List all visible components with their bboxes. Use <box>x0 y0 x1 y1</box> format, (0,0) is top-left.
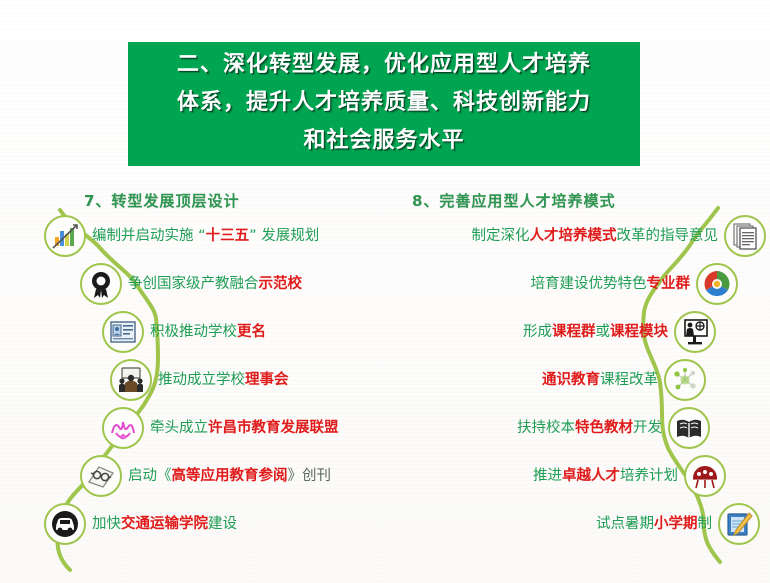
label-segment: 课程模块 <box>610 324 668 340</box>
banner-line-1: 二、深化转型发展，优化应用型人才培养 <box>177 46 591 84</box>
banner-line-3: 和社会服务水平 <box>303 122 464 160</box>
label-segment: 更名 <box>237 324 266 340</box>
label-segment: 建设 <box>208 516 237 532</box>
label-segment: 课程群 <box>552 324 596 340</box>
list-item-label: 编制并启动实施 “十三五” 发展规划 <box>92 226 319 246</box>
pinwheel-circle-icon[interactable] <box>696 263 738 305</box>
label-segment: 课程改革 <box>600 372 658 388</box>
award-rosette-icon[interactable] <box>80 263 122 305</box>
label-segment: 特色教材 <box>575 420 633 436</box>
label-segment: 扶持校本 <box>517 420 575 436</box>
list-item-label: 培育建设优势特色专业群 <box>531 274 691 294</box>
label-segment: 推进 <box>533 468 562 484</box>
label-segment: 改革的指导意见 <box>617 228 719 244</box>
label-segment: 形成 <box>523 324 552 340</box>
label-segment: 制 <box>698 516 713 532</box>
list-item[interactable]: 试点暑期小学期制 <box>596 502 760 546</box>
list-item[interactable]: 通识教育课程改革 <box>542 358 706 402</box>
list-item[interactable]: 推进卓越人才培养计划 <box>533 454 726 498</box>
list-item-label: 制定深化人才培养模式改革的指导意见 <box>472 226 719 246</box>
label-segment: 示范校 <box>259 276 303 292</box>
label-segment: 培育建设优势特色 <box>531 276 647 292</box>
list-item-label: 争创国家级产教融合示范校 <box>128 274 302 294</box>
list-item[interactable]: 制定深化人才培养模式改革的指导意见 <box>472 214 767 258</box>
graduation-cap-icon[interactable] <box>684 455 726 497</box>
list-item-label: 形成课程群或课程模块 <box>523 322 668 342</box>
meeting-board-icon[interactable] <box>110 359 152 401</box>
label-segment: 制定深化 <box>472 228 530 244</box>
list-item[interactable]: 积极推动学校更名 <box>102 310 266 354</box>
label-segment: 理事会 <box>245 372 289 388</box>
label-segment: 通识教育 <box>542 372 600 388</box>
stacked-documents-icon[interactable] <box>724 215 766 257</box>
right-section-list: 制定深化人才培养模式改革的指导意见培育建设优势特色专业群形成课程群或课程模块通识… <box>396 214 766 559</box>
right-section-heading: 8、完善应用型人才培养模式 <box>412 190 615 211</box>
label-segment: 编制并启动实施 “ <box>92 228 206 244</box>
open-book-icon[interactable] <box>668 407 710 449</box>
list-item[interactable]: 培育建设优势特色专业群 <box>531 262 739 306</box>
list-item[interactable]: 推动成立学校理事会 <box>110 358 289 402</box>
label-segment: 人才培养模式 <box>530 228 617 244</box>
label-segment: 牵头成立 <box>150 420 208 436</box>
label-segment: 》创刊 <box>288 468 332 484</box>
label-segment: 积极推动学校 <box>150 324 237 340</box>
list-item-label: 启动《高等应用教育参阅》创刊 <box>128 466 331 486</box>
label-segment: 培养计划 <box>620 468 678 484</box>
label-segment: 交通运输学院 <box>121 516 208 532</box>
label-segment: 试点暑期 <box>596 516 654 532</box>
molecule-atom-icon[interactable] <box>664 359 706 401</box>
list-item[interactable]: 牵头成立许昌市教育发展联盟 <box>102 406 339 450</box>
list-item-label: 通识教育课程改革 <box>542 370 658 390</box>
label-segment: 推动成立学校 <box>158 372 245 388</box>
banner-line-2: 体系，提升人才培养质量、科技创新能力 <box>177 84 591 122</box>
list-item[interactable]: 启动《高等应用教育参阅》创刊 <box>80 454 331 498</box>
label-segment: 或 <box>596 324 611 340</box>
left-section-heading: 7、转型发展顶层设计 <box>84 190 239 211</box>
lecture-screen-icon[interactable] <box>674 311 716 353</box>
certificate-document-icon[interactable] <box>102 311 144 353</box>
title-banner: 二、深化转型发展，优化应用型人才培养 体系，提升人才培养质量、科技创新能力 和社… <box>128 42 640 166</box>
bar-chart-icon[interactable] <box>44 215 86 257</box>
list-item[interactable]: 扶持校本特色教材开发 <box>517 406 710 450</box>
slide-canvas: 二、深化转型发展，优化应用型人才培养 体系，提升人才培养质量、科技创新能力 和社… <box>0 0 770 583</box>
label-segment: 卓越人才 <box>562 468 620 484</box>
label-segment: 加快 <box>92 516 121 532</box>
label-segment: 专业群 <box>647 276 691 292</box>
left-section-list: 编制并启动实施 “十三五” 发展规划争创国家级产教融合示范校积极推动学校更名推动… <box>44 214 384 559</box>
list-item-label: 推动成立学校理事会 <box>158 370 289 390</box>
list-item-label: 加快交通运输学院建设 <box>92 514 237 534</box>
list-item[interactable]: 形成课程群或课程模块 <box>523 310 716 354</box>
list-item-label: 推进卓越人才培养计划 <box>533 466 678 486</box>
label-segment: 十三五 <box>206 228 250 244</box>
label-segment: 开发 <box>633 420 662 436</box>
journal-glasses-icon[interactable] <box>80 455 122 497</box>
label-segment: 小学期 <box>654 516 698 532</box>
list-item[interactable]: 编制并启动实施 “十三五” 发展规划 <box>44 214 319 258</box>
label-segment: 高等应用教育参阅 <box>172 468 288 484</box>
label-segment: 争创国家级产教融合 <box>128 276 259 292</box>
list-item[interactable]: 加快交通运输学院建设 <box>44 502 237 546</box>
notebook-pencil-icon[interactable] <box>718 503 760 545</box>
label-segment: 启动《 <box>128 468 172 484</box>
label-segment: ” 发展规划 <box>249 228 319 244</box>
list-item-label: 扶持校本特色教材开发 <box>517 418 662 438</box>
handshake-network-icon[interactable] <box>102 407 144 449</box>
list-item-label: 积极推动学校更名 <box>150 322 266 342</box>
list-item[interactable]: 争创国家级产教融合示范校 <box>80 262 302 306</box>
list-item-label: 试点暑期小学期制 <box>596 514 712 534</box>
transport-car-icon[interactable] <box>44 503 86 545</box>
list-item-label: 牵头成立许昌市教育发展联盟 <box>150 418 339 438</box>
label-segment: 许昌市教育发展联盟 <box>208 420 339 436</box>
